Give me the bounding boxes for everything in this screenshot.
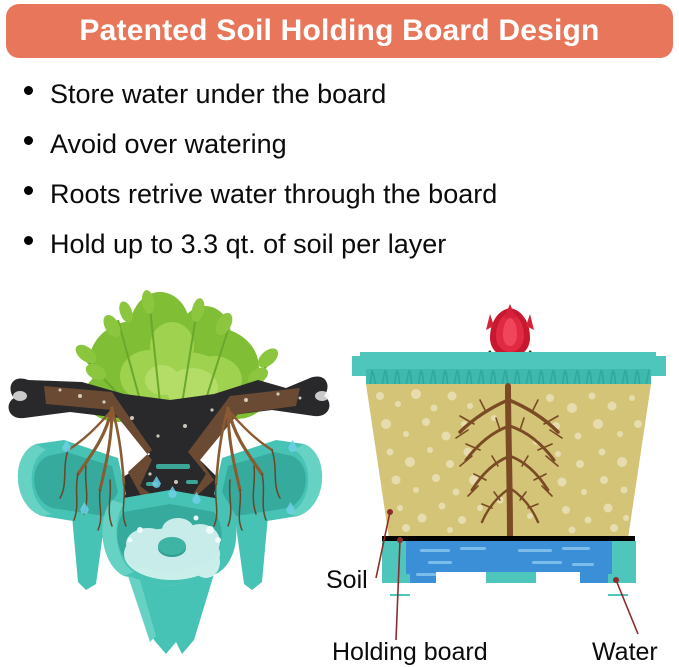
cross-section-diagram: Soil Holding board Water xyxy=(340,300,679,665)
list-item-label: Roots retrive water through the board xyxy=(50,170,497,218)
list-item: Store water under the board xyxy=(0,70,679,120)
label-holding-board: Holding board xyxy=(332,638,488,667)
list-item-label: Hold up to 3.3 qt. of soil per layer xyxy=(50,220,446,268)
list-item: Hold up to 3.3 qt. of soil per layer xyxy=(0,220,679,270)
plant-roots-icon xyxy=(0,268,340,665)
bullet-icon xyxy=(24,136,33,145)
header-banner: Patented Soil Holding Board Design xyxy=(6,4,673,58)
bullet-icon xyxy=(24,236,33,245)
page-title: Patented Soil Holding Board Design xyxy=(79,16,599,46)
product-photo xyxy=(0,268,340,665)
label-water: Water xyxy=(592,638,658,667)
list-item: Roots retrive water through the board xyxy=(0,170,679,220)
bullet-icon xyxy=(24,186,33,195)
label-soil: Soil xyxy=(326,566,368,595)
bullet-icon xyxy=(24,86,33,95)
list-item-label: Store water under the board xyxy=(50,70,386,118)
leader-lines xyxy=(340,300,679,665)
feature-list: Store water under the board Avoid over w… xyxy=(0,70,679,270)
list-item-label: Avoid over watering xyxy=(50,120,287,168)
list-item: Avoid over watering xyxy=(0,120,679,170)
